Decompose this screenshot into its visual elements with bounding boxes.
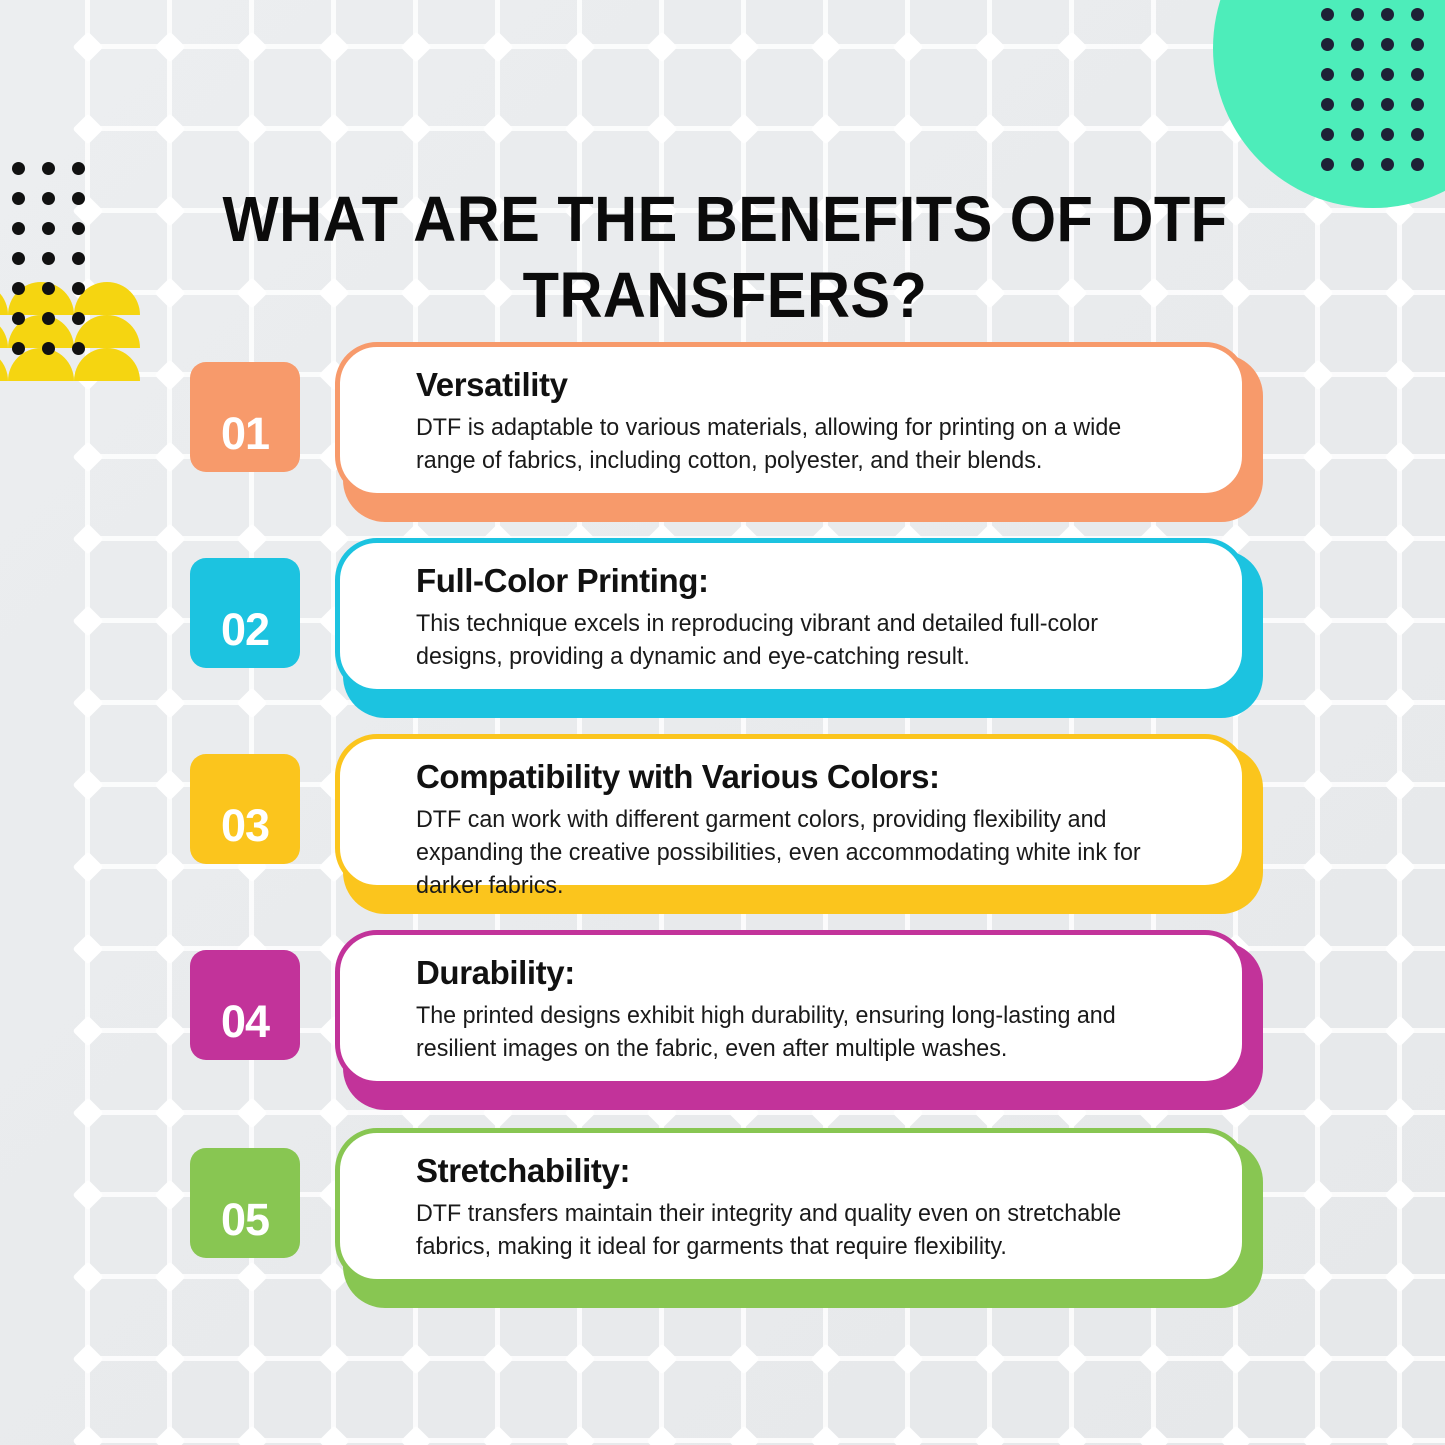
benefit-number: 02 xyxy=(221,607,269,652)
benefit-card-surface: Compatibility with Various Colors:DTF ca… xyxy=(335,734,1247,890)
benefit-description: DTF transfers maintain their integrity a… xyxy=(416,1197,1184,1263)
benefit-card: Compatibility with Various Colors:DTF ca… xyxy=(335,734,1255,909)
benefit-number: 03 xyxy=(221,803,269,848)
benefit-row: VersatilityDTF is adaptable to various m… xyxy=(0,342,1445,527)
benefit-card: Full-Color Printing:This technique excel… xyxy=(335,538,1255,713)
benefit-card-surface: Stretchability:DTF transfers maintain th… xyxy=(335,1128,1247,1284)
benefit-number-badge: 03 xyxy=(190,754,300,864)
benefit-number: 05 xyxy=(221,1197,269,1242)
benefit-number: 04 xyxy=(221,999,269,1044)
benefit-number-badge: 04 xyxy=(190,950,300,1060)
benefit-title: Stretchability: xyxy=(416,1151,1208,1191)
benefit-card: Durability:The printed designs exhibit h… xyxy=(335,930,1255,1105)
benefit-description: The printed designs exhibit high durabil… xyxy=(416,999,1184,1065)
benefit-number-badge: 01 xyxy=(190,362,300,472)
benefit-title: Full-Color Printing: xyxy=(416,561,1208,601)
benefit-card-surface: VersatilityDTF is adaptable to various m… xyxy=(335,342,1247,498)
benefit-card-surface: Durability:The printed designs exhibit h… xyxy=(335,930,1247,1086)
benefit-number-badge: 05 xyxy=(190,1148,300,1258)
benefit-row: Full-Color Printing:This technique excel… xyxy=(0,538,1445,723)
benefit-title: Compatibility with Various Colors: xyxy=(416,757,1208,797)
benefit-title: Versatility xyxy=(416,365,1208,405)
benefit-card: Stretchability:DTF transfers maintain th… xyxy=(335,1128,1255,1303)
benefit-card-surface: Full-Color Printing:This technique excel… xyxy=(335,538,1247,694)
benefit-row: Compatibility with Various Colors:DTF ca… xyxy=(0,734,1445,919)
benefit-row: Durability:The printed designs exhibit h… xyxy=(0,930,1445,1115)
benefit-description: This technique excels in reproducing vib… xyxy=(416,607,1184,673)
benefit-description: DTF can work with different garment colo… xyxy=(416,803,1184,902)
benefits-list: VersatilityDTF is adaptable to various m… xyxy=(0,0,1445,1445)
benefit-card: VersatilityDTF is adaptable to various m… xyxy=(335,342,1255,517)
benefit-description: DTF is adaptable to various materials, a… xyxy=(416,411,1184,477)
benefit-title: Durability: xyxy=(416,953,1208,993)
benefit-number-badge: 02 xyxy=(190,558,300,668)
benefit-number: 01 xyxy=(221,411,269,456)
benefit-row: Stretchability:DTF transfers maintain th… xyxy=(0,1128,1445,1313)
infographic-canvas: WHAT ARE THE BENEFITS OF DTF TRANSFERS? … xyxy=(0,0,1445,1445)
